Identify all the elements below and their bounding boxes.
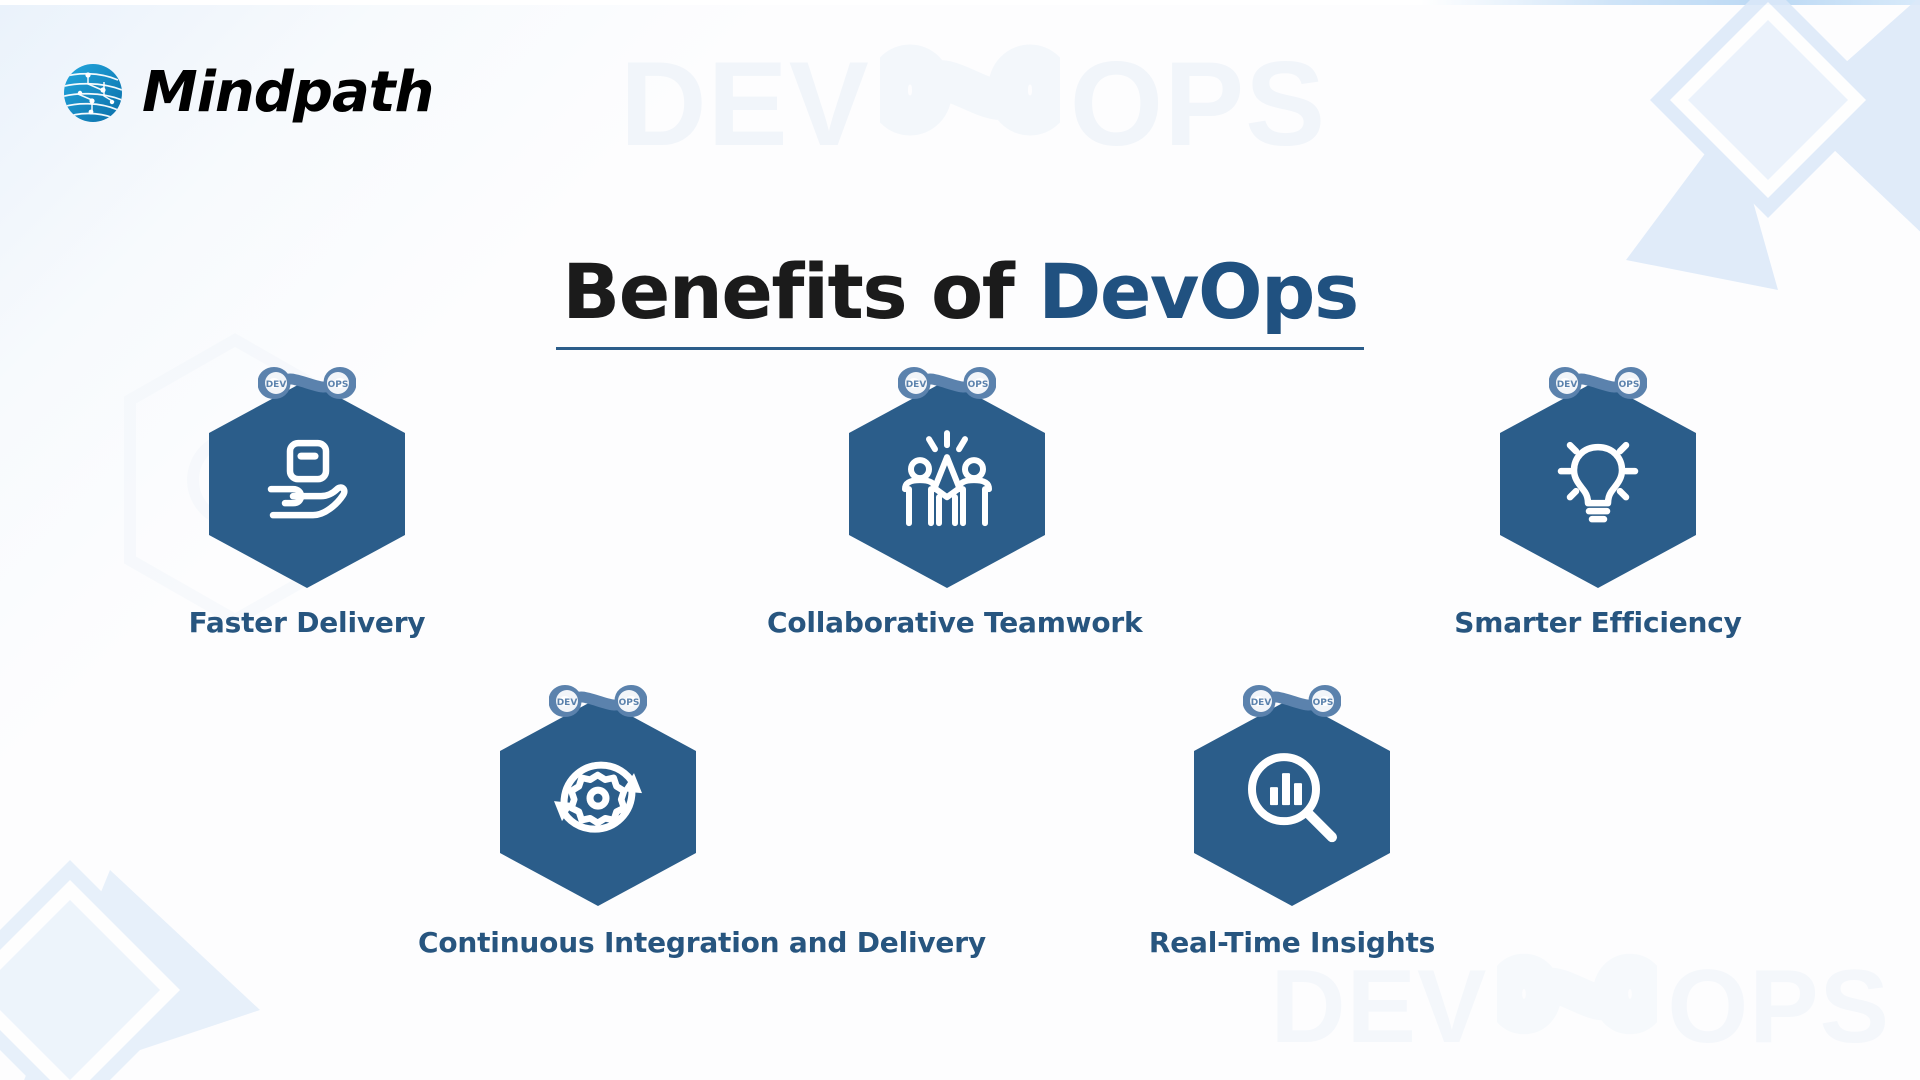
slide-root: DEV OPS DEV OPS xyxy=(0,0,1920,1080)
geometric-watermark-bottom-left xyxy=(0,810,320,1080)
devops-infinity-icon: DEV OPS xyxy=(898,360,996,406)
watermark-infinity-icon-2 xyxy=(1497,941,1657,1072)
devops-watermark-top: DEV OPS xyxy=(620,30,1326,178)
hex-icon-wrap: DEV OPS xyxy=(495,678,701,908)
hex-icon-wrap: DEV OPS xyxy=(844,360,1050,590)
hex-icon-wrap: DEV OPS xyxy=(204,360,410,590)
benefit-card-label: Faster Delivery xyxy=(127,606,487,639)
hex-icon-wrap: DEV OPS xyxy=(1189,678,1395,908)
benefit-card-continuous-integration-and-delivery[interactable]: DEV OPS xyxy=(418,678,778,959)
hex-icon-wrap: DEV OPS xyxy=(1495,360,1701,590)
benefit-card-real-time-insights[interactable]: DEV OPS Real-Time Insights xyxy=(1112,678,1472,959)
svg-text:OPS: OPS xyxy=(1313,698,1334,708)
devops-infinity-icon: DEV OPS xyxy=(258,360,356,406)
svg-text:DEV: DEV xyxy=(557,698,578,708)
globe-network-icon xyxy=(62,62,124,124)
watermark-dev-text-2: DEV xyxy=(1271,955,1488,1059)
page-title-prefix: Benefits of xyxy=(562,247,1038,336)
benefit-card-label: Smarter Efficiency xyxy=(1418,606,1778,639)
watermark-ops-text-2: OPS xyxy=(1667,955,1890,1059)
benefit-card-label: Collaborative Teamwork xyxy=(767,606,1127,639)
brand-logo[interactable]: Mindpath xyxy=(62,62,433,124)
benefit-card-label: Real-Time Insights xyxy=(1112,926,1472,959)
benefit-card-faster-delivery[interactable]: DEV OPS Faster Delivery xyxy=(127,360,487,639)
svg-text:DEV: DEV xyxy=(906,380,927,390)
watermark-infinity-icon xyxy=(880,30,1060,178)
svg-text:DEV: DEV xyxy=(1557,380,1578,390)
page-title: Benefits of DevOps xyxy=(556,251,1363,350)
lightbulb-icon xyxy=(1546,427,1650,531)
svg-text:DEV: DEV xyxy=(266,380,287,390)
benefit-card-smarter-efficiency[interactable]: DEV OPS xyxy=(1418,360,1778,639)
svg-text:OPS: OPS xyxy=(328,380,349,390)
brand-name: Mindpath xyxy=(142,65,433,121)
svg-text:OPS: OPS xyxy=(968,380,989,390)
svg-text:OPS: OPS xyxy=(1619,380,1640,390)
devops-infinity-icon: DEV OPS xyxy=(1549,360,1647,406)
benefit-card-collaborative-teamwork[interactable]: DEV OPS xyxy=(767,360,1127,639)
devops-infinity-icon: DEV OPS xyxy=(1243,678,1341,724)
svg-text:DEV: DEV xyxy=(1251,698,1272,708)
hand-holding-package-icon xyxy=(255,427,359,531)
devops-watermark-bottom-right: DEV OPS xyxy=(1271,941,1890,1072)
watermark-ops-text: OPS xyxy=(1070,44,1326,164)
top-accent-stripe xyxy=(0,0,1920,5)
devops-infinity-icon: DEV OPS xyxy=(549,678,647,724)
people-high-five-icon xyxy=(895,427,999,531)
svg-text:OPS: OPS xyxy=(619,698,640,708)
gear-refresh-cycle-icon xyxy=(546,745,650,849)
watermark-dev-text: DEV xyxy=(620,44,870,164)
magnifier-bar-chart-icon xyxy=(1240,745,1344,849)
benefit-card-label: Continuous Integration and Delivery xyxy=(418,926,778,959)
page-title-accent: DevOps xyxy=(1038,247,1357,336)
